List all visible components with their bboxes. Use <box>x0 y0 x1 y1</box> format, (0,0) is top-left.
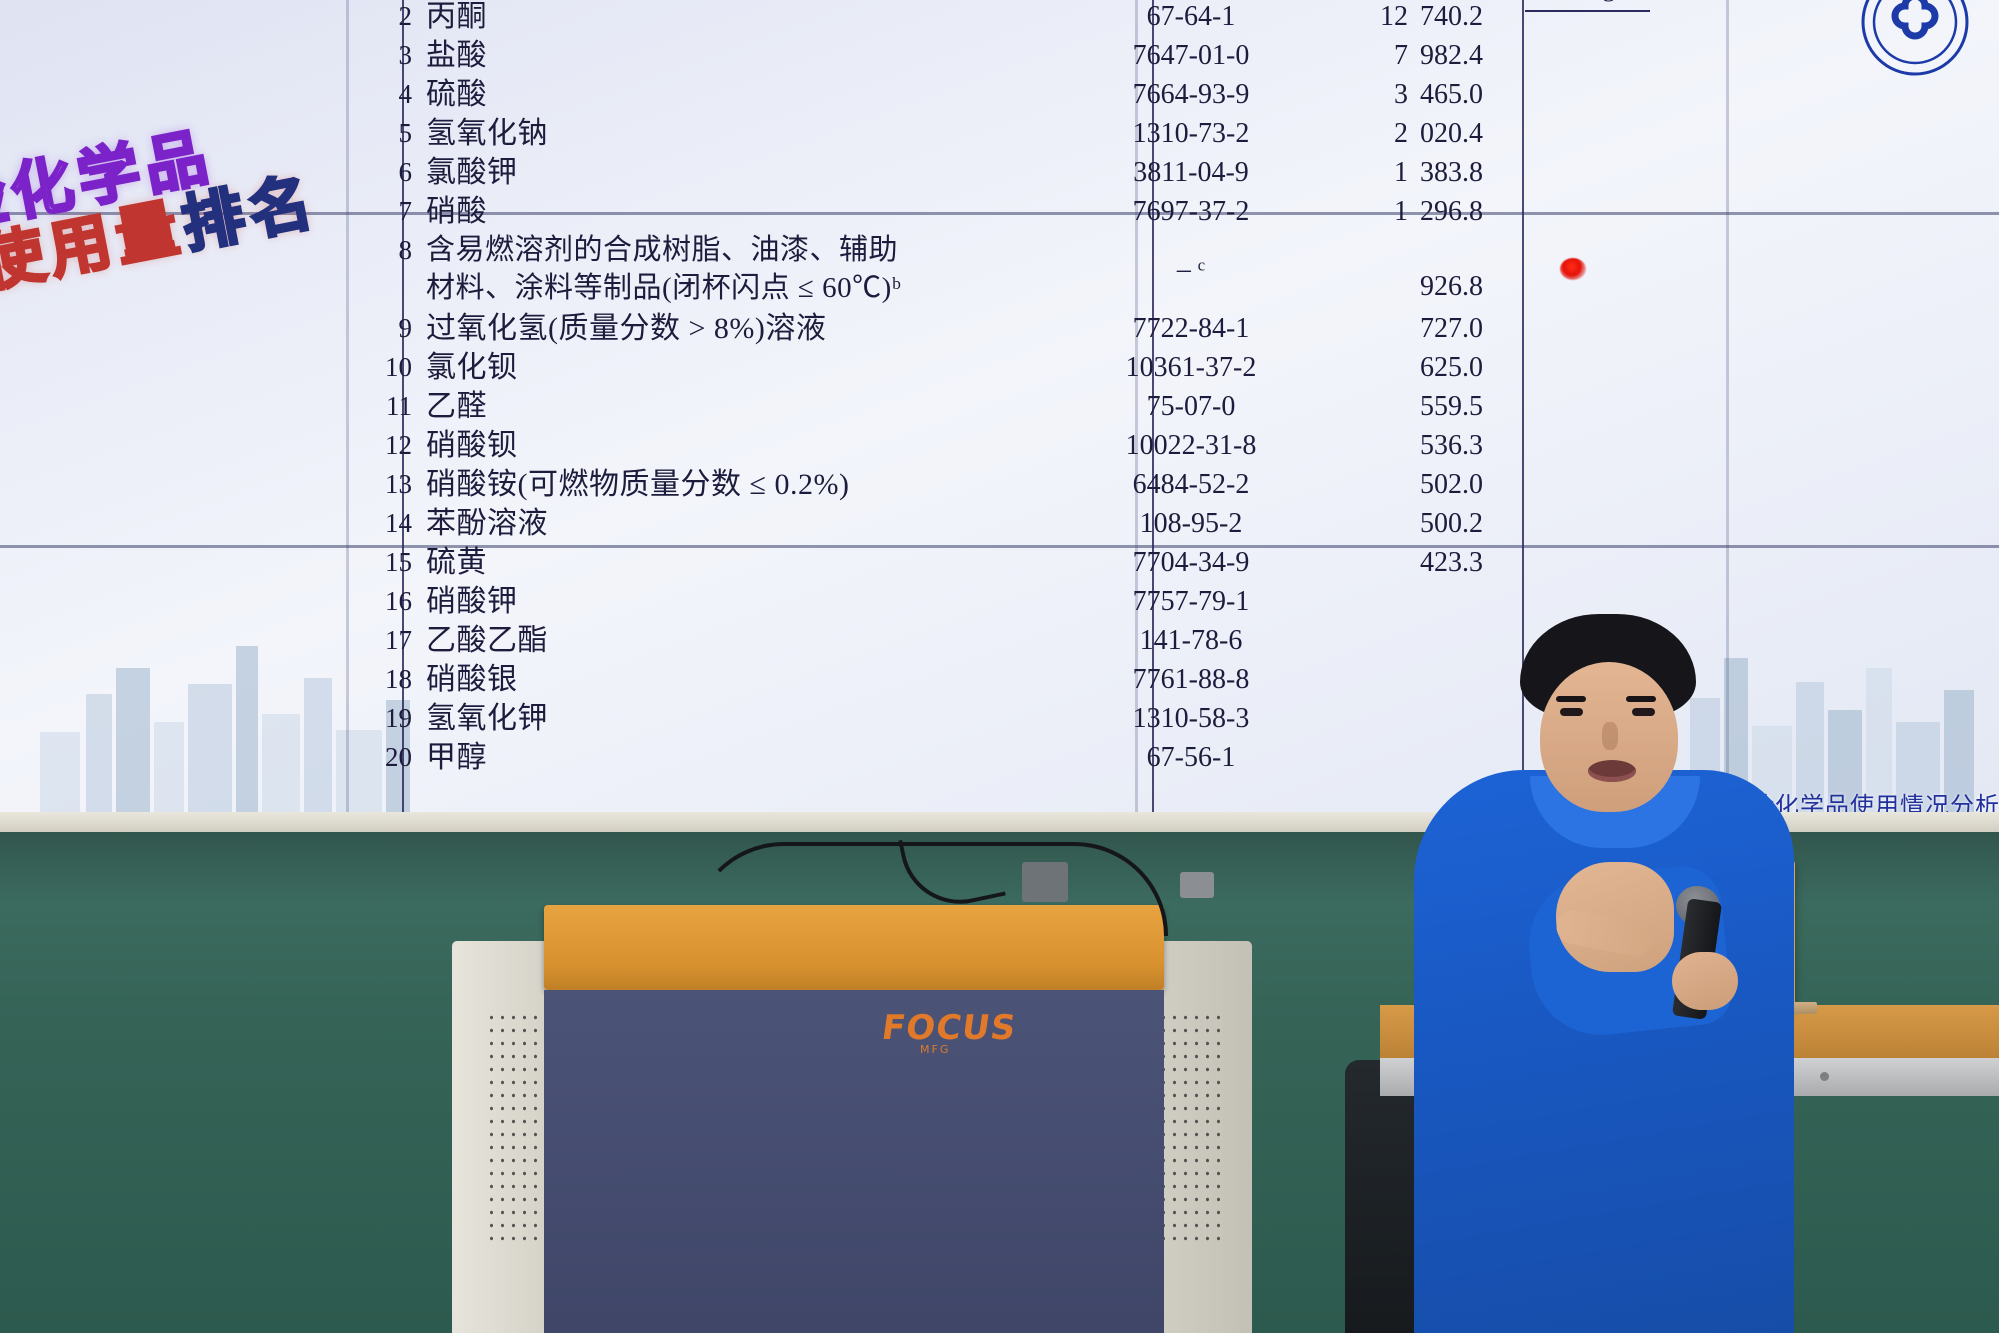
row-cas-number: 7722-84-1 <box>1026 309 1356 348</box>
row-index: 16 <box>350 582 426 621</box>
row-cas-number: 7757-79-1 <box>1026 582 1356 621</box>
table-row: 6 氯酸钾 3811-04-9 1 383.8 <box>350 153 1650 192</box>
table-row: 4 硫酸 7664-93-9 3 465.0 <box>350 75 1650 114</box>
row-amount-value: 740.2 <box>1408 0 1570 36</box>
row-chemical-name: 硝酸铵(可燃物质量分数 ≤ 0.2%) <box>426 465 1026 504</box>
row-chemical-name: 硝酸银 <box>426 660 1026 699</box>
table-row: 2 丙酮 67-64-1 12 740.2 <box>350 0 1650 36</box>
panel-seam-vertical <box>346 0 349 818</box>
row-cas-number: 3811-04-9 <box>1026 153 1356 192</box>
row-chemical-name: 硝酸钡 <box>426 426 1026 465</box>
row-amount-thousands: 1 <box>1356 192 1408 231</box>
blue-jacket <box>1414 770 1794 1333</box>
row-chemical-name: 硫酸 <box>426 75 1026 114</box>
table-row: 3 盐酸 7647-01-0 7 982.4 <box>350 36 1650 75</box>
row-chemical-name: 硫黄 <box>426 543 1026 582</box>
row-amount-thousands: 1 <box>1356 153 1408 192</box>
rail-screw <box>1820 1072 1829 1081</box>
row-index: 13 <box>350 465 426 504</box>
row-cas-number: 141-78-6 <box>1026 621 1356 660</box>
table-row: 7 硝酸 7697-37-2 1 296.8 <box>350 192 1650 231</box>
table-row: 12 硝酸钡 10022-31-8 536.3 <box>350 426 1650 465</box>
row-amount-value: 500.2 <box>1408 504 1570 543</box>
row-chemical-name: 甲醇 <box>426 738 1026 777</box>
row-index: 7 <box>350 192 426 231</box>
table-row: 14 苯酚溶液 108-95-2 500.2 <box>350 504 1650 543</box>
row-chemical-name: 乙醛 <box>426 387 1026 426</box>
row-amount-value: 020.4 <box>1408 114 1570 153</box>
row-index: 10 <box>350 348 426 387</box>
row-chemical-name: 乙酸乙酯 <box>426 621 1026 660</box>
row-index: 6 <box>350 153 426 192</box>
row-index: 15 <box>350 543 426 582</box>
row-cas-number: 67-56-1 <box>1026 738 1356 777</box>
siosh-logo: SIOSH <box>1859 0 1971 78</box>
row-index: 3 <box>350 36 426 75</box>
row-chemical-name: 含易燃溶剂的合成树脂、油漆、辅助 材料、涂料等制品(闭杯闪点 ≤ 60℃)ᵇ <box>426 231 1026 307</box>
row-index: 12 <box>350 426 426 465</box>
row-cas-number: 6484-52-2 <box>1026 465 1356 504</box>
row-index: 9 <box>350 309 426 348</box>
row-cas-number: 10361-37-2 <box>1026 348 1356 387</box>
row-index: 5 <box>350 114 426 153</box>
mic-base-box <box>1022 862 1068 902</box>
table-row: 9 过氧化氢(质量分数 > 8%)溶液 7722-84-1 727.0 <box>350 309 1650 348</box>
row-amount-thousands: 12 <box>1356 0 1408 36</box>
row-amount-thousands: 2 <box>1356 114 1408 153</box>
row-chemical-name: 氯化钡 <box>426 348 1026 387</box>
row-cas-number: 1310-58-3 <box>1026 699 1356 738</box>
row-amount-value: 502.0 <box>1408 465 1570 504</box>
row-index: 17 <box>350 621 426 660</box>
row-amount-value: 465.0 <box>1408 75 1570 114</box>
eye-right <box>1632 708 1655 716</box>
row-chemical-name-line1: 含易燃溶剂的合成树脂、油漆、辅助 <box>426 234 898 266</box>
row-amount-value: 536.3 <box>1408 426 1570 465</box>
table-row: 5 氢氧化钠 1310-73-2 2 020.4 <box>350 114 1650 153</box>
row-amount-value: 383.8 <box>1408 153 1570 192</box>
row-cas-number: 1310-73-2 <box>1026 114 1356 153</box>
row-amount-value: 982.4 <box>1408 36 1570 75</box>
row-amount-value: 727.0 <box>1408 309 1570 348</box>
screenshot-stage: 用量/kg 1 乙醇(无水) 64-17-5 15 717.4 2 丙酮 67-… <box>0 0 1999 1333</box>
table-row: 8 含易燃溶剂的合成树脂、油漆、辅助 材料、涂料等制品(闭杯闪点 ≤ 60℃)ᵇ… <box>350 231 1650 309</box>
row-chemical-name: 硝酸 <box>426 192 1026 231</box>
laser-pointer-dot <box>1560 258 1586 280</box>
row-amount-value: 559.5 <box>1408 387 1570 426</box>
row-cas-number: – ᶜ <box>1026 231 1356 309</box>
row-cas-number: 10022-31-8 <box>1026 426 1356 465</box>
row-cas-number: 7761-88-8 <box>1026 660 1356 699</box>
row-chemical-name: 丙酮 <box>426 0 1026 36</box>
row-index: 14 <box>350 504 426 543</box>
table-row: 15 硫黄 7704-34-9 423.3 <box>350 543 1650 582</box>
mic-holding-hand <box>1672 952 1738 1010</box>
row-index: 20 <box>350 738 426 777</box>
lectern-podium: FOCUS MFG <box>452 905 1252 1333</box>
lectern-front-panel <box>544 990 1164 1333</box>
speaker-grille <box>1158 1011 1220 1241</box>
row-chemical-name: 过氧化氢(质量分数 > 8%)溶液 <box>426 309 1026 348</box>
focus-brand-sublabel: MFG <box>920 1043 950 1056</box>
eye-left <box>1560 708 1583 716</box>
row-cas-number: 7704-34-9 <box>1026 543 1356 582</box>
row-amount-thousands: 7 <box>1356 36 1408 75</box>
presenter-person <box>1380 600 1800 1333</box>
handwritten-title-annotation: 险化学品 使用量排名 <box>0 106 323 302</box>
row-chemical-name: 氢氧化钾 <box>426 699 1026 738</box>
row-amount-thousands: 3 <box>1356 75 1408 114</box>
row-index: 2 <box>350 0 426 36</box>
speaker-grille <box>486 1011 548 1241</box>
nose <box>1602 722 1618 750</box>
row-index: 19 <box>350 699 426 738</box>
row-amount-value: 296.8 <box>1408 192 1570 231</box>
row-cas-number: 7664-93-9 <box>1026 75 1356 114</box>
eyebrow-right <box>1626 696 1656 702</box>
row-chemical-name: 苯酚溶液 <box>426 504 1026 543</box>
row-index: 4 <box>350 75 426 114</box>
row-cas-number: 67-64-1 <box>1026 0 1356 36</box>
mic-connector <box>1180 872 1214 898</box>
row-chemical-name: 氢氧化钠 <box>426 114 1026 153</box>
row-cas-number: 7647-01-0 <box>1026 36 1356 75</box>
row-chemical-name: 盐酸 <box>426 36 1026 75</box>
row-index: 8 <box>350 231 426 270</box>
table-row: 13 硝酸铵(可燃物质量分数 ≤ 0.2%) 6484-52-2 502.0 <box>350 465 1650 504</box>
row-amount-value: 625.0 <box>1408 348 1570 387</box>
row-chemical-name: 氯酸钾 <box>426 153 1026 192</box>
row-cas-number: 75-07-0 <box>1026 387 1356 426</box>
focus-brand-logo: FOCUS <box>879 1008 1019 1048</box>
row-chemical-name-line2: 材料、涂料等制品(闭杯闪点 ≤ 60℃)ᵇ <box>426 272 901 304</box>
row-cas-number: 108-95-2 <box>1026 504 1356 543</box>
mouth <box>1588 760 1636 782</box>
table-row: 11 乙醛 75-07-0 559.5 <box>350 387 1650 426</box>
row-chemical-name: 硝酸钾 <box>426 582 1026 621</box>
row-index: 18 <box>350 660 426 699</box>
table-row: 10 氯化钡 10361-37-2 625.0 <box>350 348 1650 387</box>
row-amount-value: 423.3 <box>1408 543 1570 582</box>
eyebrow-left <box>1556 696 1586 702</box>
row-index: 11 <box>350 387 426 426</box>
row-cas-number: 7697-37-2 <box>1026 192 1356 231</box>
